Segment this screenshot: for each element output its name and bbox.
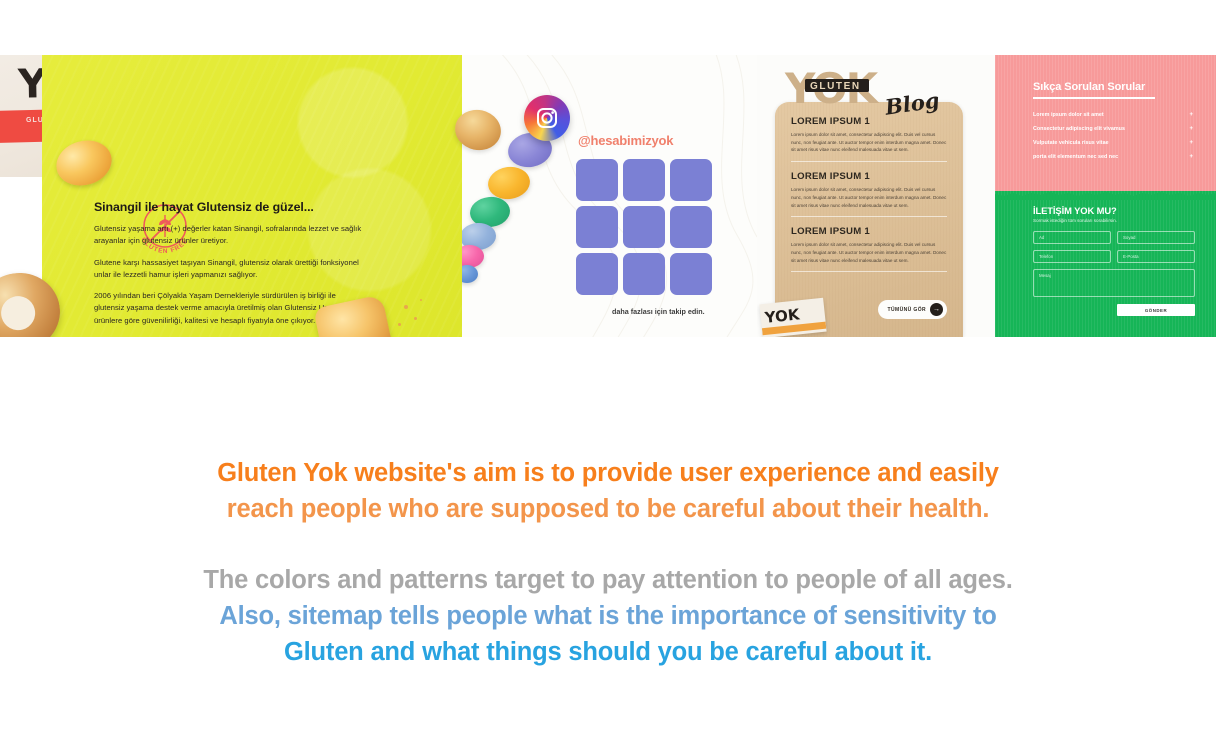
instagram-post-cell[interactable] bbox=[670, 253, 712, 295]
sticker-logo-text: YOK bbox=[764, 305, 800, 327]
name-field[interactable]: Ad bbox=[1033, 231, 1111, 244]
message-field-placeholder: Mesaj bbox=[1039, 273, 1051, 278]
hero-lime-card: GLUTENSİZ GLUTEN FREE Sinangil ile hayat… bbox=[42, 55, 462, 337]
faq-title-underline bbox=[1033, 97, 1155, 99]
view-all-button[interactable]: TÜMÜNÜ GÖR → bbox=[878, 300, 947, 319]
blog-post-body: Lorem ipsum dolor sit amet, consectetur … bbox=[791, 131, 947, 154]
instagram-post-cell[interactable] bbox=[670, 206, 712, 248]
blog-divider bbox=[791, 271, 947, 272]
blog-post-title: LOREM IPSUM 1 bbox=[791, 171, 947, 182]
blue-caption-block: The colors and patterns target to pay at… bbox=[0, 562, 1216, 671]
contact-field-row: Ad Soyad bbox=[1033, 231, 1195, 244]
svg-text:GLUTEN: GLUTEN bbox=[810, 81, 861, 92]
plus-icon[interactable]: + bbox=[1189, 154, 1193, 160]
faq-item[interactable]: Lorem ipsum dolor sit amet + bbox=[1033, 108, 1193, 122]
arrow-right-icon: → bbox=[930, 303, 943, 316]
email-field[interactable]: E-Posta bbox=[1117, 250, 1195, 263]
instagram-icon[interactable] bbox=[524, 95, 570, 141]
faq-item[interactable]: Vulputate vehicula risus vitae + bbox=[1033, 136, 1193, 150]
torn-edge-decoration bbox=[995, 191, 1216, 200]
blog-post-body: Lorem ipsum dolor sit amet, consectetur … bbox=[791, 186, 947, 209]
blog-post-title: LOREM IPSUM 1 bbox=[791, 226, 947, 237]
blue-caption-line-1: The colors and patterns target to pay at… bbox=[0, 562, 1216, 598]
blog-section: YOK GLUTEN Blog LOREM IPSUM 1 Lorem ipsu… bbox=[757, 55, 995, 337]
blog-divider bbox=[791, 161, 947, 162]
faq-item[interactable]: porta elit elementum nec sed nec + bbox=[1033, 150, 1193, 164]
surname-field-placeholder: Soyad bbox=[1123, 235, 1135, 240]
page-root: YOK GLUTENSİZ ÜRÜNLER GLUTENSİZ GLU bbox=[0, 0, 1216, 745]
faq-question: Consectetur adipiscing elit vivamus bbox=[1033, 126, 1125, 132]
hero-paragraph-1: Glutensiz yaşama artı (+) değerler katan… bbox=[94, 223, 364, 248]
orange-caption-line-2: reach people who are supposed to be care… bbox=[0, 491, 1216, 527]
instagram-post-cell[interactable] bbox=[623, 253, 665, 295]
blog-post-item[interactable]: LOREM IPSUM 1 Lorem ipsum dolor sit amet… bbox=[791, 116, 947, 162]
faq-question: Lorem ipsum dolor sit amet bbox=[1033, 112, 1104, 118]
blog-post-item[interactable]: LOREM IPSUM 1 Lorem ipsum dolor sit amet… bbox=[791, 226, 947, 272]
phone-field-placeholder: Telefon bbox=[1039, 254, 1053, 259]
blog-post-body: Lorem ipsum dolor sit amet, consectetur … bbox=[791, 241, 947, 264]
name-field-placeholder: Ad bbox=[1039, 235, 1044, 240]
faq-section: Sıkça Sorulan Sorular Lorem ipsum dolor … bbox=[995, 55, 1216, 198]
blue-caption-line-3: Gluten and what things should you be car… bbox=[0, 634, 1216, 670]
instagram-post-cell[interactable] bbox=[576, 159, 618, 201]
instagram-post-grid bbox=[576, 159, 712, 295]
surname-field[interactable]: Soyad bbox=[1117, 231, 1195, 244]
contact-section: İLETİŞİM YOK MU? Sormak istediğin tüm so… bbox=[995, 191, 1216, 337]
instagram-post-cell[interactable] bbox=[576, 253, 618, 295]
contact-subtitle: Sormak istediğin tüm soruları sorabilirs… bbox=[1033, 218, 1117, 223]
email-field-placeholder: E-Posta bbox=[1123, 254, 1139, 259]
hero-title: Sinangil ile hayat Glutensiz de güzel... bbox=[94, 200, 364, 214]
contact-form: Ad Soyad Telefon E-Posta Mes bbox=[1033, 231, 1195, 316]
contact-title: İLETİŞİM YOK MU? bbox=[1033, 205, 1117, 216]
plus-icon[interactable]: + bbox=[1189, 126, 1193, 132]
instagram-follow-text: daha fazlası için takip edin. bbox=[612, 307, 705, 316]
hero-paragraph-2: Glutene karşı hassasiyet taşıyan Sinangi… bbox=[94, 257, 364, 282]
website-mockup-strip: YOK GLUTENSİZ ÜRÜNLER GLUTENSİZ GLU bbox=[0, 55, 1216, 337]
orange-caption-line-1: Gluten Yok website's aim is to provide u… bbox=[0, 455, 1216, 491]
orange-caption-block: Gluten Yok website's aim is to provide u… bbox=[0, 455, 1216, 527]
blog-post-item[interactable]: LOREM IPSUM 1 Lorem ipsum dolor sit amet… bbox=[791, 171, 947, 217]
phone-field[interactable]: Telefon bbox=[1033, 250, 1111, 263]
yok-sticker-decoration: YOK bbox=[759, 298, 826, 337]
instagram-post-cell[interactable] bbox=[623, 206, 665, 248]
plus-icon[interactable]: + bbox=[1189, 140, 1193, 146]
faq-question: Vulputate vehicula risus vitae bbox=[1033, 140, 1109, 146]
blog-divider bbox=[791, 216, 947, 217]
instagram-post-cell[interactable] bbox=[670, 159, 712, 201]
blog-post-title: LOREM IPSUM 1 bbox=[791, 116, 947, 127]
instagram-post-cell[interactable] bbox=[623, 159, 665, 201]
contact-field-row: Telefon E-Posta bbox=[1033, 250, 1195, 263]
faq-title: Sıkça Sorulan Sorular bbox=[1033, 81, 1145, 93]
contact-field-row: Mesaj bbox=[1033, 269, 1195, 297]
faq-item[interactable]: Consectetur adipiscing elit vivamus + bbox=[1033, 122, 1193, 136]
submit-button-label: GÖNDER bbox=[1145, 308, 1167, 313]
view-all-label: TÜMÜNÜ GÖR bbox=[888, 307, 926, 313]
instagram-post-cell[interactable] bbox=[576, 206, 618, 248]
submit-button[interactable]: GÖNDER bbox=[1117, 304, 1195, 316]
instagram-handle[interactable]: @hesabimizyok bbox=[578, 133, 673, 148]
faq-question: porta elit elementum nec sed nec bbox=[1033, 154, 1118, 160]
instagram-section: @hesabimizyok daha fazlası için takip ed… bbox=[462, 55, 757, 337]
plus-icon[interactable]: + bbox=[1189, 112, 1193, 118]
blue-caption-line-2: Also, sitemap tells people what is the i… bbox=[0, 598, 1216, 634]
message-field[interactable]: Mesaj bbox=[1033, 269, 1195, 297]
instagram-glyph bbox=[534, 105, 560, 131]
faq-list: Lorem ipsum dolor sit amet + Consectetur… bbox=[1033, 108, 1193, 164]
